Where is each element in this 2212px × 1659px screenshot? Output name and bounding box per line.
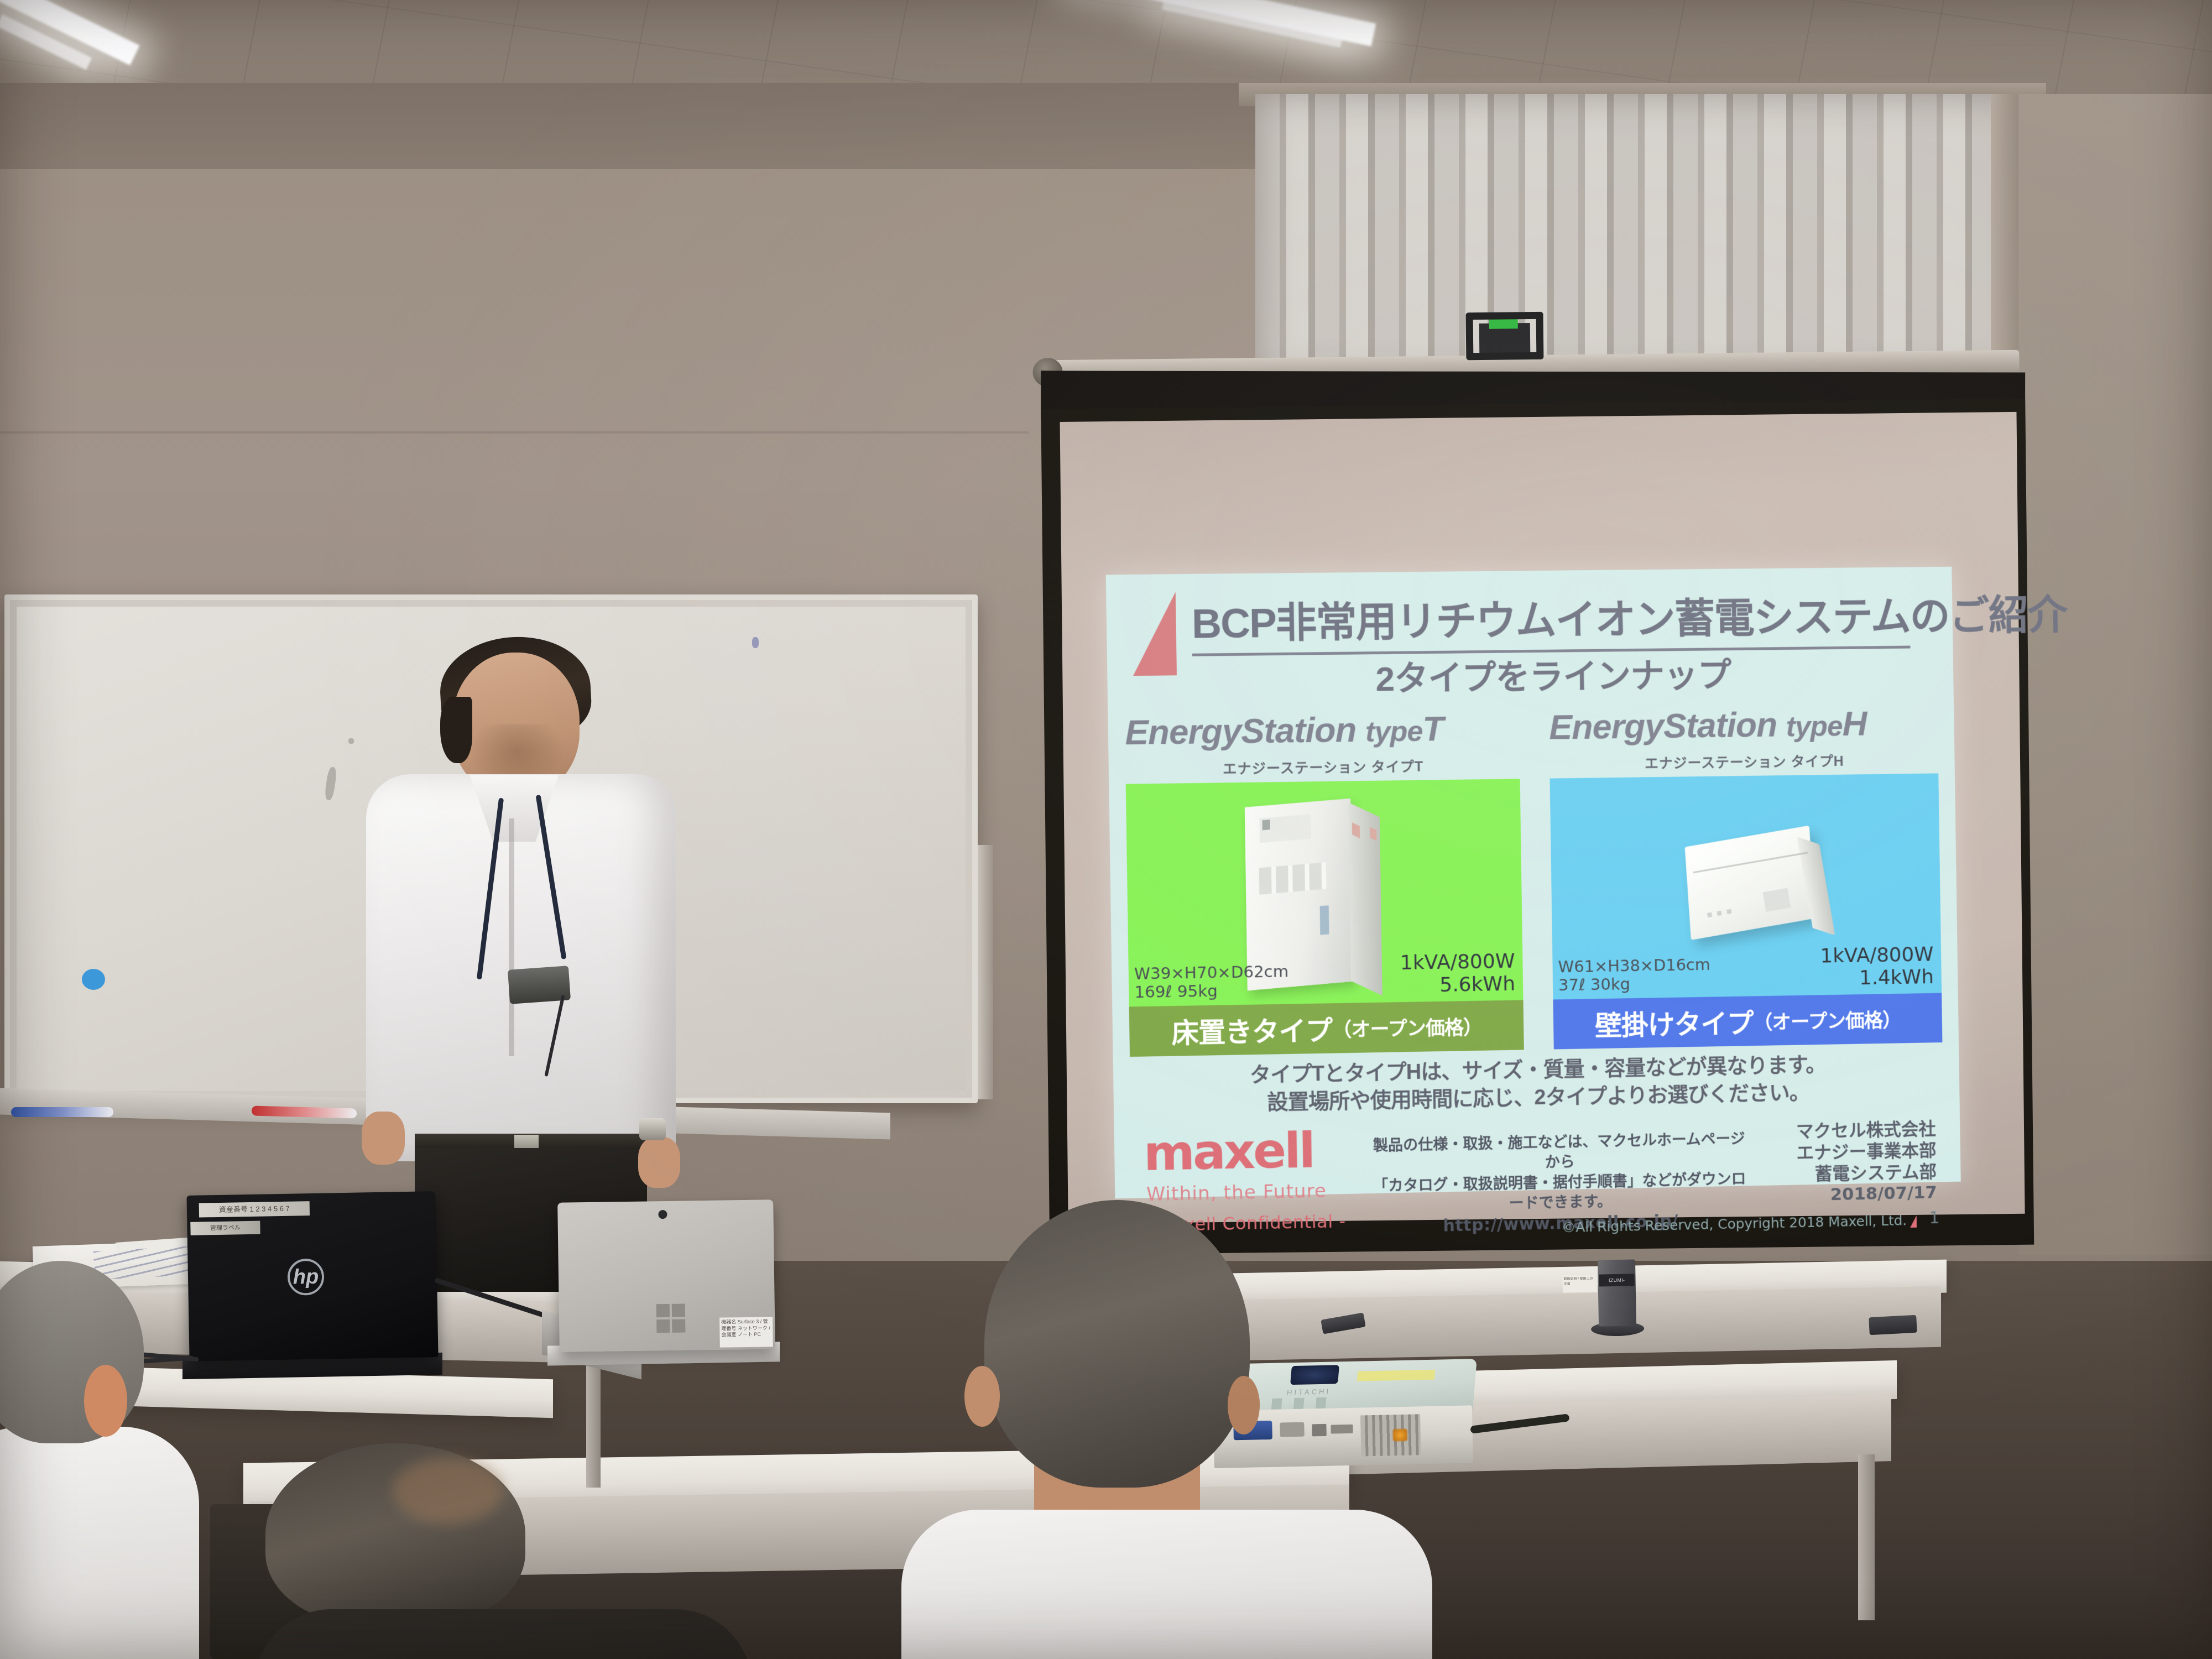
product-indicator: [1262, 820, 1270, 830]
whiteboard-magnet[interactable]: [82, 969, 105, 990]
laptop-asset-sticker: 資産番号 1 2 3 4 5 6 7: [199, 1201, 310, 1217]
microsoft-logo-icon: [656, 1304, 687, 1334]
spec-dimensions-type-t: W39×H70×D62cm 169ℓ 95kg: [1134, 962, 1289, 1002]
title-triangle-icon: [1132, 592, 1177, 676]
product-kana-type-t: エナジーステーション タイプT: [1125, 754, 1520, 779]
audience-member-front: [265, 1443, 763, 1659]
presenter-hair-side: [440, 697, 472, 763]
conference-room-scene: BCP非常用リチウムイオン蓄電システムのご紹介 2タイプをラインナップ Ener…: [0, 0, 2212, 1659]
type-band-type-t: 床置きタイプ（オープン価格）: [1129, 1000, 1524, 1057]
whiteboard-smudge: [752, 637, 759, 648]
product-image-box-type-t: W39×H70×D62cm 169ℓ 95kg 1kVA/800W 5.6kWh: [1126, 779, 1524, 1006]
presenter-hand-right: [638, 1137, 680, 1188]
audience-member-left: [0, 1261, 210, 1659]
slide-subtitle: 2タイプをラインナップ: [1192, 645, 1911, 703]
projected-slide: BCP非常用リチウムイオン蓄電システムのご紹介 2タイプをラインナップ Ener…: [1106, 567, 1961, 1199]
camera-icon: [658, 1210, 667, 1219]
upper-wall: [0, 83, 1272, 177]
maxell-logo: maxell: [1143, 1128, 1313, 1176]
type-band-type-h: 壁掛けタイプ（オープン価格）: [1553, 993, 1942, 1050]
product-name-type: type: [1365, 715, 1423, 748]
whiteboard-right-edge: [978, 845, 993, 1099]
audience-head: [984, 1200, 1250, 1488]
presenter: [332, 636, 730, 1288]
hp-laptop[interactable]: 資産番号 1 2 3 4 5 6 7 管理ラベル hp: [186, 1191, 438, 1361]
wall-panel-line: [0, 431, 1029, 434]
spec-dimensions-type-h: W61×H38×D16cm 37ℓ 30kg: [1558, 956, 1710, 995]
product-kana-type-h: エナジーステーション タイプH: [1550, 749, 1938, 774]
audience-shirt: [0, 1427, 199, 1659]
screen-border: BCP非常用リチウムイオン蓄電システムのご紹介 2タイプをラインナップ Ener…: [1041, 399, 2034, 1255]
footer-triangle-icon: [1910, 1215, 1917, 1228]
footer-division: エナジー事業本部: [1796, 1140, 1937, 1164]
slide-title: BCP非常用リチウムイオン蓄電システムのご紹介: [1191, 583, 1910, 656]
device-instruction-note: 取扱説明 / 使用上の注意: [1562, 1275, 1597, 1293]
slide-note: タイプTとタイプHは、サイズ・質量・容量などが異なります。 設置場所や使用時間に…: [1130, 1049, 1943, 1119]
type-band-price: （オープン価格）: [1332, 1011, 1483, 1042]
footer-department: 蓄電システム部: [1797, 1161, 1937, 1186]
audience-ear: [1228, 1376, 1260, 1434]
hp-logo-icon: hp: [287, 1259, 324, 1296]
product-name-type-t: EnergyStation typeT: [1125, 708, 1520, 753]
footer-date: 2018/07/17: [1797, 1183, 1937, 1207]
wall-seam: [0, 166, 1283, 169]
product-illustration-wall-unit: [1685, 826, 1815, 940]
type-band-label: 床置きタイプ: [1171, 1009, 1333, 1051]
product-name-letter: T: [1422, 709, 1444, 749]
type-band-price: （オープン価格）: [1753, 1004, 1901, 1035]
product-name-type-h: EnergyStation typeH: [1549, 703, 1938, 747]
slide-page-number: 1: [1929, 1208, 1939, 1228]
product-columns: EnergyStation typeT エナジーステーション タイプT: [1125, 703, 1943, 1057]
vertical-blinds[interactable]: [1255, 94, 2030, 382]
product-column-type-h: EnergyStation typeH エナジーステーション タイプH: [1549, 703, 1943, 1049]
audience-scalp-highlight: [393, 1458, 503, 1524]
tablet-asset-sticker: 機器名 Surface 3 / 管理番号 ネットワーク / 会議室 ノート PC: [719, 1317, 773, 1347]
audience-shirt: [901, 1510, 1432, 1659]
audience-member-center: [896, 1200, 1438, 1659]
remote-control[interactable]: [1869, 1315, 1917, 1335]
table-leg: [1858, 1454, 1875, 1620]
right-wall: [2018, 94, 2212, 1255]
wristwatch: [639, 1118, 666, 1140]
laptop-management-sticker: 管理ラベル: [190, 1221, 260, 1235]
presenter-hand-left: [362, 1112, 405, 1165]
screen-mount-clamp: [1466, 312, 1544, 360]
slide-footer: maxell Within, the Future - Maxell Confi…: [1131, 1115, 1945, 1214]
device-brand-label: IZUMI-COSMO: [1599, 1274, 1634, 1286]
product-name-letter: H: [1842, 705, 1867, 743]
projection-screen-assembly: BCP非常用リチウムイオン蓄電システムのご紹介 2タイプをラインナップ Ener…: [1035, 360, 2034, 1266]
surface-tablet[interactable]: 機器名 Surface 3 / 管理番号 ネットワーク / 会議室 ノート PC: [557, 1199, 775, 1352]
product-name-main: EnergyStation: [1125, 711, 1357, 752]
spec-output-type-t: 1kVA/800W 5.6kWh: [1400, 950, 1516, 998]
izumi-cosmo-device[interactable]: IZUMI-COSMO 取扱説明 / 使用上の注意: [1598, 1259, 1636, 1326]
product-handle: [1320, 905, 1329, 935]
screen-surface: BCP非常用リチウムイオン蓄電システムのご紹介 2タイプをラインナップ Ener…: [1060, 412, 2025, 1224]
footer-company-block: マクセル株式会社 エナジー事業本部 蓄電システム部 2018/07/17: [1796, 1118, 1937, 1206]
product-image-box-type-h: W61×H38×D16cm 37ℓ 30kg 1kVA/800W 1.4kWh: [1550, 773, 1942, 999]
audience-jacket: [254, 1609, 752, 1659]
audience-ear: [84, 1365, 127, 1437]
clamp-frame: [1466, 312, 1544, 360]
blue-marker[interactable]: [11, 1107, 113, 1117]
product-name-type: type: [1786, 710, 1843, 743]
spec-output-type-h: 1kVA/800W 1.4kWh: [1820, 943, 1934, 990]
footer-company: マクセル株式会社: [1796, 1118, 1937, 1142]
audience-ear: [964, 1366, 1000, 1427]
footer-info-line1: 製品の仕様・取扱・施工などは、マクセルホームページから: [1365, 1129, 1752, 1176]
product-column-type-t: EnergyStation typeT エナジーステーション タイプT: [1125, 708, 1524, 1057]
product-name-main: EnergyStation: [1549, 706, 1777, 747]
product-vent: [1259, 862, 1327, 894]
presenter-shirt-placket: [509, 818, 514, 1056]
device-body: [1598, 1259, 1636, 1326]
type-band-label: 壁掛けタイプ: [1595, 1001, 1754, 1044]
